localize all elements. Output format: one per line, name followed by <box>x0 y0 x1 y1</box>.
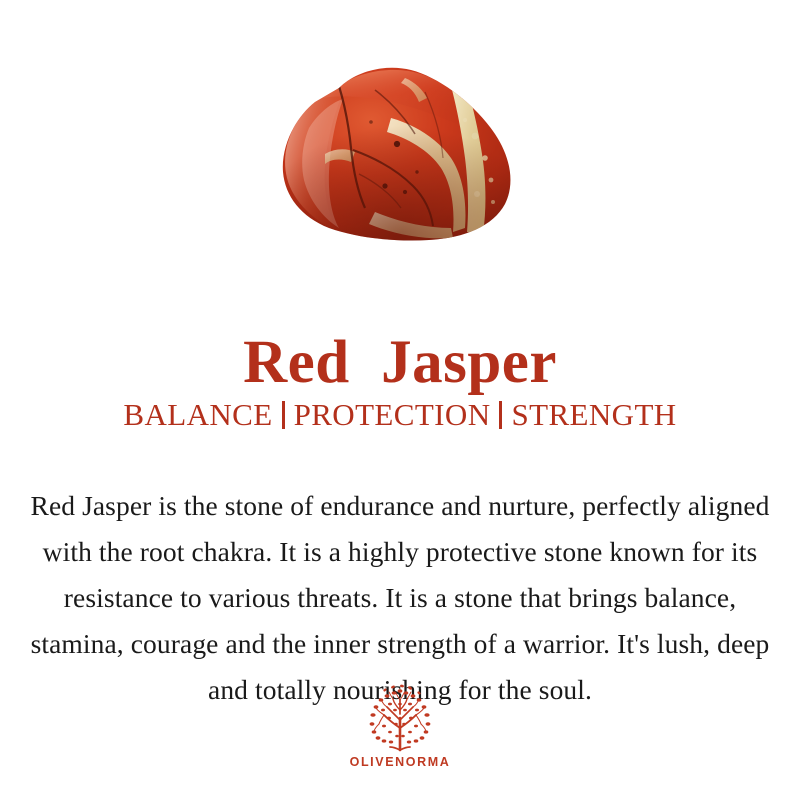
product-description: Red Jasper is the stone of endurance and… <box>18 483 782 713</box>
product-card: Red Jasper BALANCE PROTECTION STRENGTH R… <box>0 0 800 800</box>
keyword-balance: BALANCE <box>114 396 281 433</box>
tree-logo-icon <box>363 684 437 754</box>
keyword-strength: STRENGTH <box>502 396 685 433</box>
keyword-protection: PROTECTION <box>285 396 500 433</box>
page-title: Red Jasper <box>0 329 800 396</box>
keyword-list: BALANCE PROTECTION STRENGTH <box>0 396 800 433</box>
brand-wordmark: OLIVENORMA <box>350 756 451 769</box>
gemstone-icon <box>279 62 521 244</box>
brand-logo: OLIVENORMA <box>0 684 800 769</box>
stone-image-container <box>0 58 800 248</box>
